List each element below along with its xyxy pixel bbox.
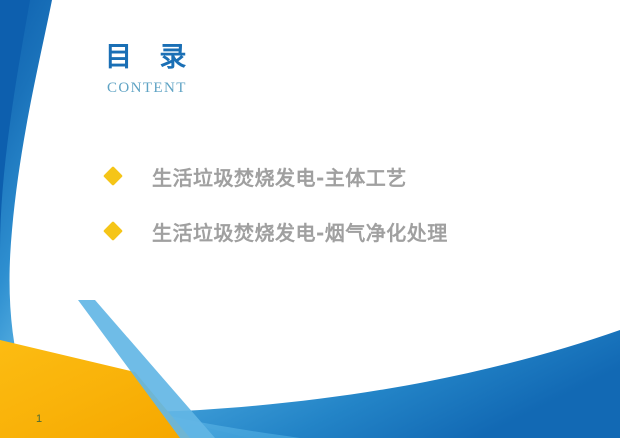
page-title-cn: 目 录 — [105, 42, 405, 73]
content-list: 生活垃圾焚烧发电-主体工艺 生活垃圾焚烧发电-烟气净化处理 — [106, 155, 566, 265]
bottom-wave-front — [0, 340, 300, 438]
page-number: 1 — [36, 413, 42, 425]
list-item-label: 生活垃圾焚烧发电-烟气净化处理 — [152, 217, 448, 246]
orange-block — [0, 340, 190, 438]
list-item[interactable]: 生活垃圾焚烧发电-烟气净化处理 — [106, 210, 566, 252]
slide-canvas: 目 录 CONTENT 生活垃圾焚烧发电-主体工艺 生活垃圾焚烧发电-烟气净化处… — [0, 0, 620, 438]
left-arc-decoration — [0, 0, 52, 438]
diamond-bullet-icon — [103, 166, 123, 186]
list-item-label: 生活垃圾焚烧发电-主体工艺 — [152, 162, 407, 191]
title-block: 目 录 CONTENT — [105, 42, 405, 96]
blue-sliver — [78, 300, 215, 438]
bottom-wave-back — [0, 330, 620, 438]
page-title-en: CONTENT — [107, 81, 405, 96]
diamond-bullet-icon — [103, 221, 123, 241]
list-item[interactable]: 生活垃圾焚烧发电-主体工艺 — [106, 155, 566, 197]
